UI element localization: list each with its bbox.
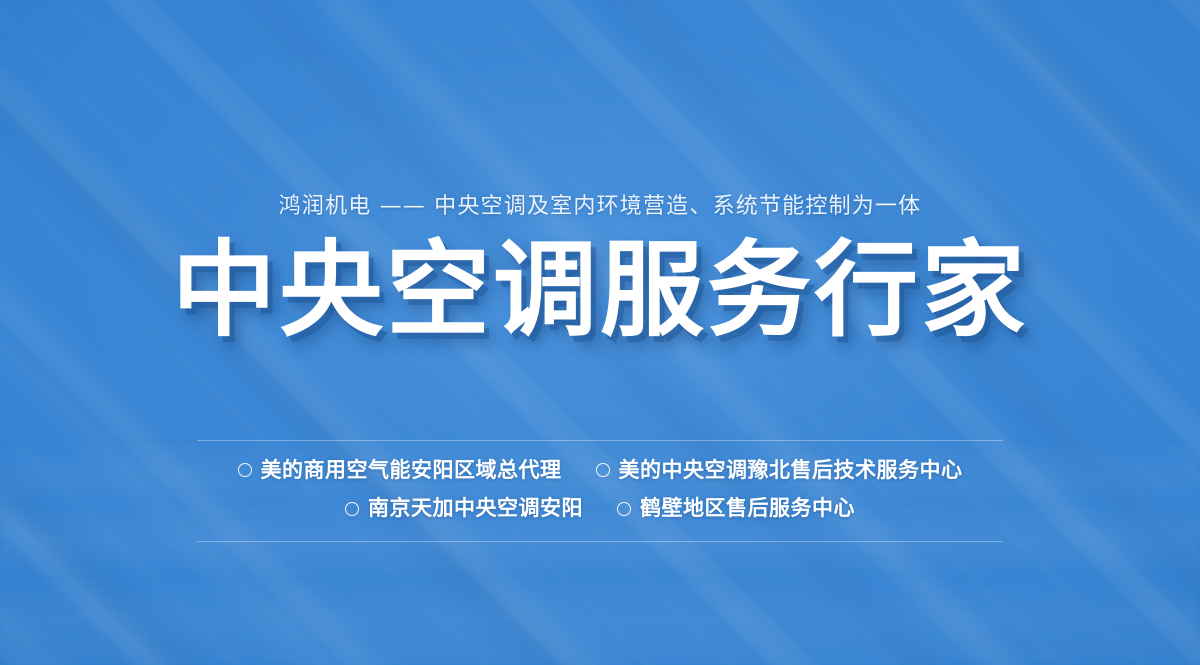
hero-banner: 鸿润机电 —— 中央空调及室内环境营造、系统节能控制为一体 中央空调服务行家 美… bbox=[0, 0, 1200, 665]
feature-item-label: 鹤壁地区售后服务中心 bbox=[640, 493, 855, 525]
banner-headline: 中央空调服务行家 bbox=[172, 238, 1028, 342]
feature-row: 美的商用空气能安阳区域总代理 美的中央空调豫北售后技术服务中心 bbox=[238, 455, 963, 487]
feature-item-label: 美的中央空调豫北售后技术服务中心 bbox=[619, 455, 963, 487]
circle-outline-icon bbox=[596, 463, 610, 477]
feature-row: 南京天加中央空调安阳 鹤壁地区售后服务中心 bbox=[345, 493, 855, 525]
feature-item: 南京天加中央空调安阳 bbox=[345, 493, 583, 525]
circle-outline-icon bbox=[345, 502, 359, 516]
feature-item: 鹤壁地区售后服务中心 bbox=[617, 493, 855, 525]
feature-item-label: 南京天加中央空调安阳 bbox=[368, 493, 583, 525]
feature-item: 美的中央空调豫北售后技术服务中心 bbox=[596, 455, 963, 487]
banner-subtitle: 鸿润机电 —— 中央空调及室内环境营造、系统节能控制为一体 bbox=[279, 196, 922, 218]
circle-outline-icon bbox=[238, 463, 252, 477]
banner-content: 鸿润机电 —— 中央空调及室内环境营造、系统节能控制为一体 中央空调服务行家 美… bbox=[0, 0, 1200, 665]
feature-item: 美的商用空气能安阳区域总代理 bbox=[238, 455, 562, 487]
feature-list: 美的商用空气能安阳区域总代理 美的中央空调豫北售后技术服务中心 南京天加中央空调… bbox=[197, 440, 1003, 542]
feature-item-label: 美的商用空气能安阳区域总代理 bbox=[261, 455, 562, 487]
circle-outline-icon bbox=[617, 502, 631, 516]
